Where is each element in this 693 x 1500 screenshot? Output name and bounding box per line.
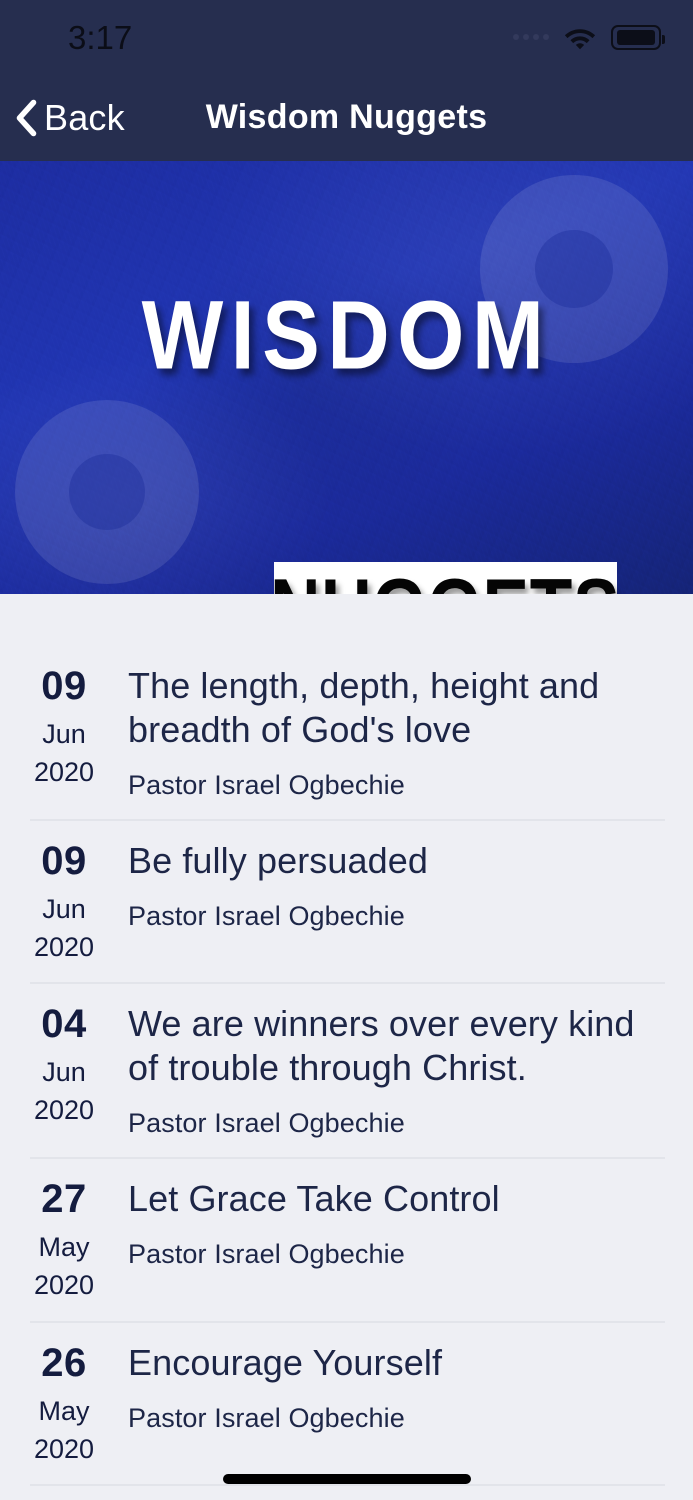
hero-title-nuggets-box: NUGGETS [274,562,617,594]
list-item[interactable]: 09 Jun 2020 Be fully persuaded Pastor Is… [0,819,693,983]
list-item-date: 27 May 2020 [0,1157,128,1321]
list-item-body: Turning adversity into victory through h… [128,1484,665,1500]
list-item-body: Let Grace Take Control Pastor Israel Ogb… [128,1157,665,1321]
list-item-month: Jun [0,714,128,756]
list-item-day: 09 [0,841,128,881]
list-item-day: 26 [0,1343,128,1383]
back-button-label: Back [44,97,125,139]
list-item-author: Pastor Israel Ogbechie [128,1403,665,1434]
list-item-year: 2020 [0,756,128,790]
app-screen: 3:17 Wisdom Nuggets [0,0,693,1500]
list-item[interactable]: 09 Jun 2020 The length, depth, height an… [0,644,693,819]
list-item-date: 26 May 2020 [0,1321,128,1485]
list-item-date: 04 Jun 2020 [0,982,128,1157]
list-item-month: May [0,1391,128,1433]
list-item-month: Jun [0,889,128,931]
home-indicator[interactable] [223,1474,471,1484]
list-item-body: We are winners over every kind of troubl… [128,982,665,1157]
list-item-title: Encourage Yourself [128,1341,665,1385]
list-item[interactable]: 27 May 2020 Let Grace Take Control Pasto… [0,1157,693,1321]
list-item-author: Pastor Israel Ogbechie [128,1108,665,1139]
list-item-date: 09 Jun 2020 [0,819,128,983]
nav-bar: Wisdom Nuggets Back [0,74,693,161]
list-top-spacer [0,594,693,644]
list-item-author: Pastor Israel Ogbechie [128,1239,665,1270]
list-item-body: The length, depth, height and breadth of… [128,644,665,819]
list-item-year: 2020 [0,931,128,965]
list-item-day: 09 [0,666,128,706]
list-item-year: 2020 [0,1094,128,1128]
back-button[interactable]: Back [12,74,125,161]
list-item-year: 2020 [0,1269,128,1303]
list-item-date: 25 May 2020 [0,1484,128,1500]
list-item-body: Encourage Yourself Pastor Israel Ogbechi… [128,1321,665,1485]
signal-dots-icon [513,34,549,40]
list-item-date: 09 Jun 2020 [0,644,128,819]
hero-title-wisdom: WISDOM [24,287,668,385]
hero-title-nuggets: NUGGETS [270,566,620,594]
decorative-ring-bottom-left [15,400,199,584]
hero-banner[interactable]: WISDOM NUGGETS [0,161,693,594]
list-item-month: May [0,1227,128,1269]
list-item-day: 04 [0,1004,128,1044]
list-item-author: Pastor Israel Ogbechie [128,901,665,932]
status-bar-indicators [513,24,661,50]
list-item-year: 2020 [0,1433,128,1467]
status-bar-time: 3:17 [68,19,132,57]
list-item-title: Be fully persuaded [128,839,665,883]
list-item-month: Jun [0,1052,128,1094]
battery-full-icon [611,25,661,50]
list-item[interactable]: 26 May 2020 Encourage Yourself Pastor Is… [0,1321,693,1485]
wifi-icon [562,24,598,50]
chevron-left-icon [12,99,38,137]
list-item-title: We are winners over every kind of troubl… [128,1002,665,1090]
list-item[interactable]: 04 Jun 2020 We are winners over every ki… [0,982,693,1157]
nuggets-list: 09 Jun 2020 The length, depth, height an… [0,594,693,1500]
status-bar: 3:17 [0,0,693,74]
list-item-title: The length, depth, height and breadth of… [128,664,665,752]
list-item-title: Let Grace Take Control [128,1177,665,1221]
list-item-day: 27 [0,1179,128,1219]
list-item-author: Pastor Israel Ogbechie [128,770,665,801]
list-item-body: Be fully persuaded Pastor Israel Ogbechi… [128,819,665,983]
list-item[interactable]: 25 May 2020 Turning adversity into victo… [0,1484,693,1500]
